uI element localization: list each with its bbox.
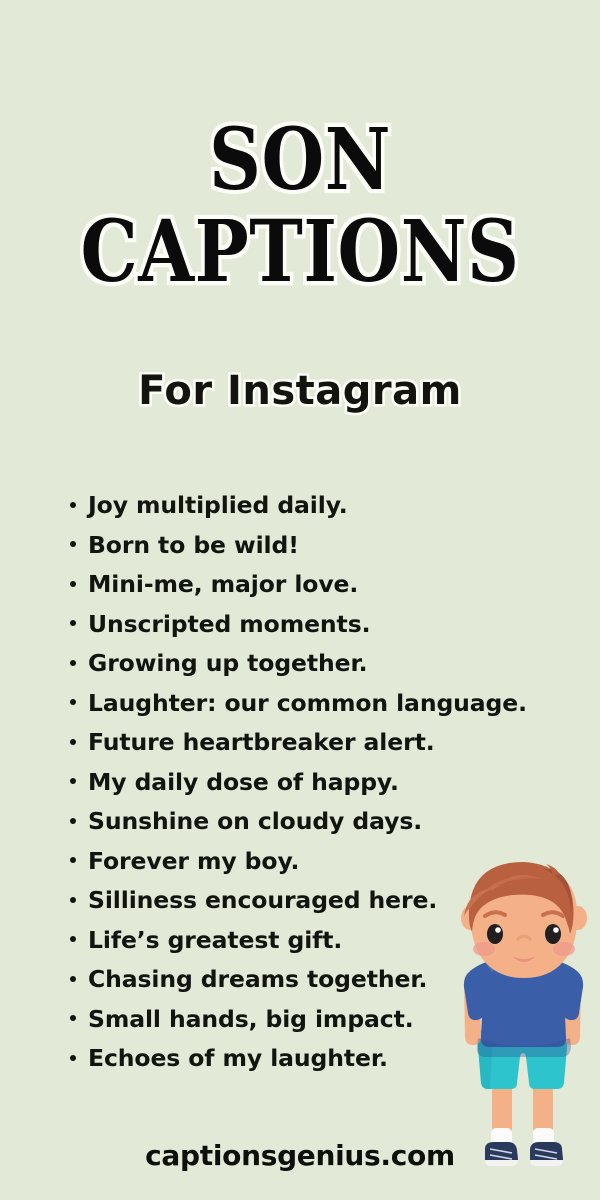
bullet-icon xyxy=(70,1046,88,1069)
caption-text: Life’s greatest gift. xyxy=(88,926,342,954)
bullet-icon xyxy=(70,849,88,872)
bullet-icon xyxy=(70,770,88,793)
caption-text: Future heartbreaker alert. xyxy=(88,728,435,756)
page-subtitle: For Instagram xyxy=(0,368,600,414)
list-item: Future heartbreaker alert. xyxy=(70,728,570,768)
bullet-icon xyxy=(70,1007,88,1030)
caption-text: Chasing dreams together. xyxy=(88,965,427,993)
page-title-line-1: SON xyxy=(0,118,600,200)
caption-text: Born to be wild! xyxy=(88,531,299,559)
caption-text: Small hands, big impact. xyxy=(88,1005,414,1033)
list-item: Laughter: our common language. xyxy=(70,689,570,729)
bullet-icon xyxy=(70,928,88,951)
list-item: Born to be wild! xyxy=(70,531,570,571)
caption-text: Echoes of my laughter. xyxy=(88,1044,388,1072)
list-item: Mini-me, major love. xyxy=(70,570,570,610)
bullet-icon xyxy=(70,691,88,714)
list-item: Unscripted moments. xyxy=(70,610,570,650)
list-item: Sunshine on cloudy days. xyxy=(70,807,570,847)
shoes xyxy=(485,1142,563,1166)
caption-text: Mini-me, major love. xyxy=(88,570,358,598)
bullet-icon xyxy=(70,533,88,556)
bullet-icon xyxy=(70,572,88,595)
caption-text: Growing up together. xyxy=(88,649,367,677)
page-title-line-2: CAPTIONS xyxy=(0,210,600,292)
caption-text: Silliness encouraged here. xyxy=(88,886,437,914)
list-item: Joy multiplied daily. xyxy=(70,491,570,531)
cartoon-boy-illustration xyxy=(448,860,600,1182)
caption-text: Laughter: our common language. xyxy=(88,689,527,717)
title-block: SON CAPTIONS xyxy=(0,118,600,280)
caption-text: Unscripted moments. xyxy=(88,610,370,638)
bullet-icon xyxy=(70,967,88,990)
bullet-icon xyxy=(70,888,88,911)
caption-text: Forever my boy. xyxy=(88,847,299,875)
list-item: My daily dose of happy. xyxy=(70,768,570,808)
bullet-icon xyxy=(70,651,88,674)
caption-text: My daily dose of happy. xyxy=(88,768,399,796)
bullet-icon xyxy=(70,730,88,753)
bullet-icon xyxy=(70,612,88,635)
bullet-icon xyxy=(70,809,88,832)
poster-canvas: SON CAPTIONS For Instagram Joy multiplie… xyxy=(0,0,600,1200)
bullet-icon xyxy=(70,493,88,516)
list-item: Growing up together. xyxy=(70,649,570,689)
caption-text: Sunshine on cloudy days. xyxy=(88,807,422,835)
caption-text: Joy multiplied daily. xyxy=(88,491,348,519)
